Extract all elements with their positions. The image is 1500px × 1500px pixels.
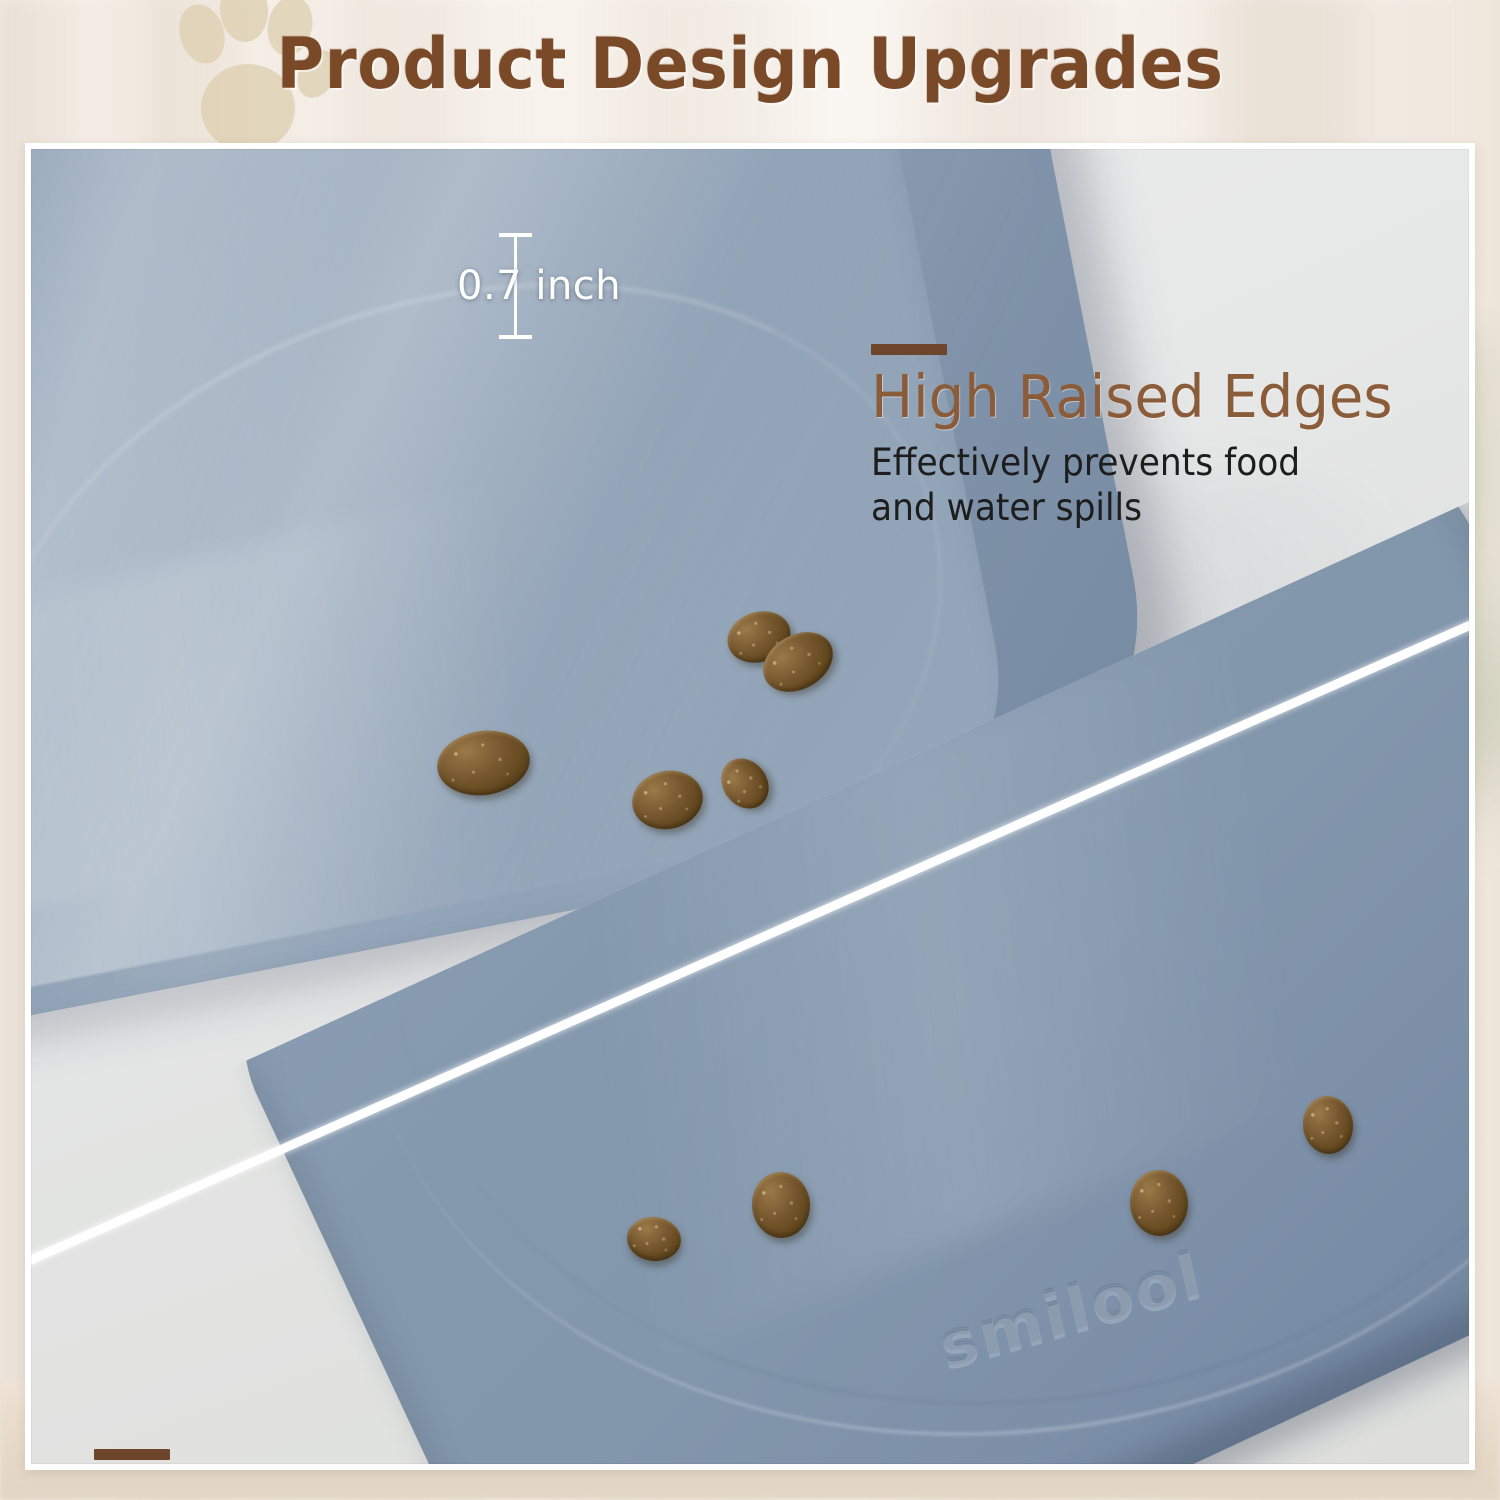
feature-subtitle-line: Effectively prevents food <box>871 440 1382 485</box>
feature-keeping-floor-clean: Keeping the floor clean Minimizes time s… <box>94 1449 990 1464</box>
feature-accent-bar <box>94 1449 170 1460</box>
dimension-annotation: 0.7 inch <box>463 227 683 367</box>
page-title: Product Design Upgrades <box>53 23 1448 105</box>
product-photo-frame: smilool 0.7 inch High Raised Edges Effec… <box>25 143 1475 1470</box>
feature-subtitle: Effectively prevents food and water spil… <box>871 440 1382 530</box>
dimension-label: 0.7 inch <box>457 263 621 309</box>
feature-high-raised-edges: High Raised Edges Effectively prevents f… <box>871 344 1420 530</box>
product-photo: smilool 0.7 inch High Raised Edges Effec… <box>31 149 1469 1464</box>
feature-accent-bar <box>871 344 947 355</box>
feature-subtitle-line: and water spills <box>871 485 1382 530</box>
dimension-cap-bottom <box>499 335 532 339</box>
feature-title: High Raised Edges <box>871 367 1393 426</box>
header-banner: Product Design Upgrades <box>0 0 1500 143</box>
